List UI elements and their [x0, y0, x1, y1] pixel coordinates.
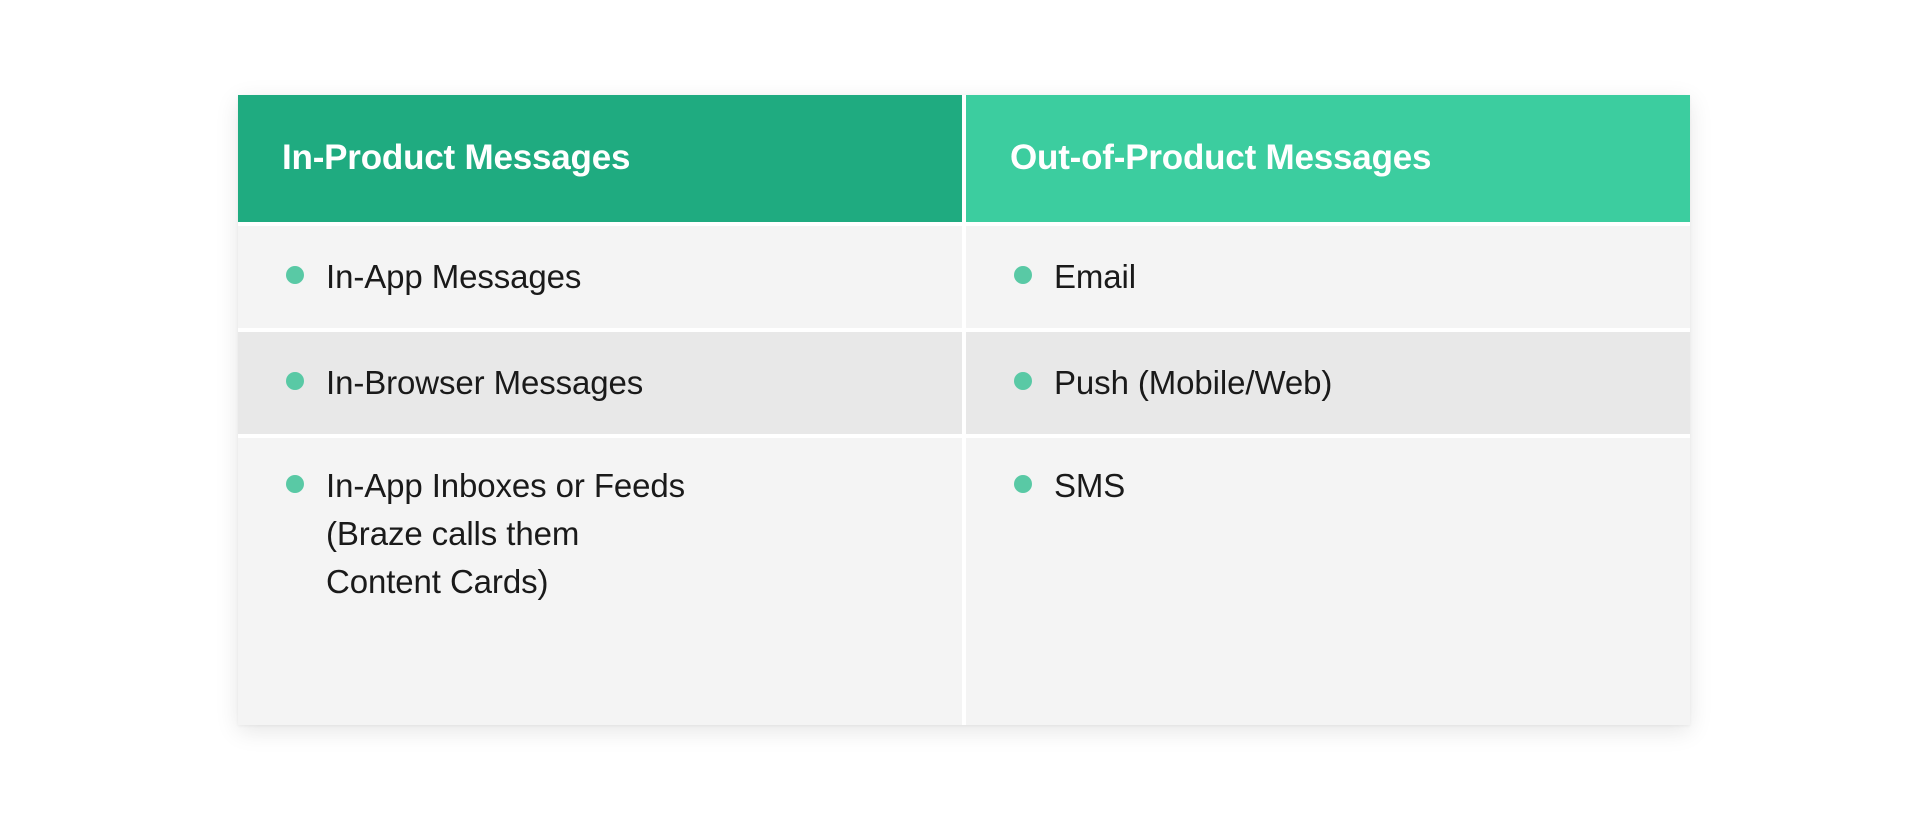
list-item: In-App Messages — [286, 253, 581, 301]
cell-in-product-1: In-App Messages — [238, 226, 962, 328]
header-cell-in-product: In-Product Messages — [238, 95, 962, 222]
table-row: In-App Messages Email — [238, 226, 1690, 328]
list-item: Push (Mobile/Web) — [1014, 359, 1332, 407]
list-item-line: In-App Messages — [326, 253, 581, 301]
list-item: In-App Inboxes or Feeds (Braze calls the… — [286, 462, 685, 606]
cell-out-of-product-3: SMS — [966, 438, 1690, 725]
list-item-label: Push (Mobile/Web) — [1054, 359, 1332, 407]
header-label-out-of-product: Out-of-Product Messages — [1010, 139, 1431, 178]
list-item-line: (Braze calls them — [326, 510, 685, 558]
table-row: In-App Inboxes or Feeds (Braze calls the… — [238, 438, 1690, 725]
list-item: SMS — [1014, 462, 1125, 510]
list-item-line: SMS — [1054, 462, 1125, 510]
bullet-icon — [286, 266, 304, 284]
table-header-row: In-Product Messages Out-of-Product Messa… — [238, 95, 1690, 222]
bullet-icon — [1014, 266, 1032, 284]
cell-in-product-3: In-App Inboxes or Feeds (Braze calls the… — [238, 438, 962, 725]
list-item-line: In-Browser Messages — [326, 359, 643, 407]
cell-out-of-product-2: Push (Mobile/Web) — [966, 332, 1690, 434]
list-item-line: Content Cards) — [326, 558, 685, 606]
table-row: In-Browser Messages Push (Mobile/Web) — [238, 332, 1690, 434]
list-item-label: In-App Inboxes or Feeds (Braze calls the… — [326, 462, 685, 606]
comparison-table: In-Product Messages Out-of-Product Messa… — [238, 95, 1690, 725]
bullet-icon — [286, 372, 304, 390]
header-label-in-product: In-Product Messages — [282, 139, 630, 178]
list-item: In-Browser Messages — [286, 359, 643, 407]
bullet-icon — [286, 475, 304, 493]
list-item-line: Email — [1054, 253, 1136, 301]
list-item-label: In-App Messages — [326, 253, 581, 301]
list-item-label: Email — [1054, 253, 1136, 301]
bullet-icon — [1014, 475, 1032, 493]
list-item-line: Push (Mobile/Web) — [1054, 359, 1332, 407]
table-body: In-App Messages Email — [238, 222, 1690, 725]
list-item-label: In-Browser Messages — [326, 359, 643, 407]
header-cell-out-of-product: Out-of-Product Messages — [966, 95, 1690, 222]
cell-in-product-2: In-Browser Messages — [238, 332, 962, 434]
page-root: In-Product Messages Out-of-Product Messa… — [0, 0, 1920, 838]
list-item-line: In-App Inboxes or Feeds — [326, 462, 685, 510]
list-item-label: SMS — [1054, 462, 1125, 510]
list-item: Email — [1014, 253, 1136, 301]
cell-out-of-product-1: Email — [966, 226, 1690, 328]
bullet-icon — [1014, 372, 1032, 390]
